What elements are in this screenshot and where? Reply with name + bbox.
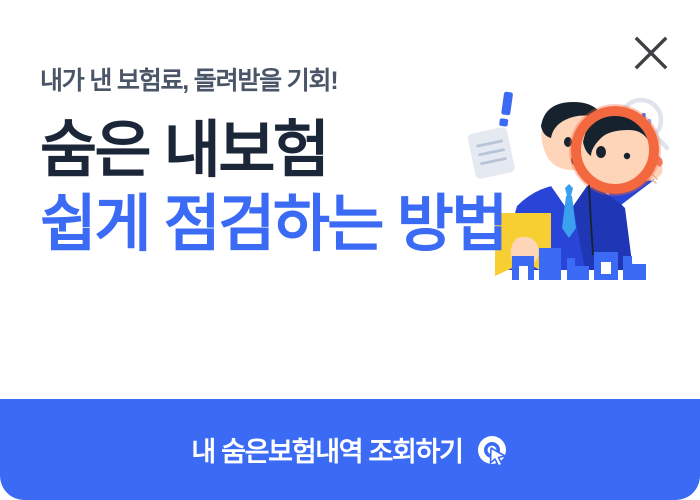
headline-line-2: 쉽게 점검하는 방법 xyxy=(40,192,506,258)
close-button[interactable] xyxy=(630,32,672,74)
headline-line-1: 숨은 내보험 xyxy=(40,118,506,184)
copy-block: 내가 낸 보험료, 돌려받을 기회! 숨은 내보험 쉽게 점검하는 방법 xyxy=(40,66,506,257)
close-x-icon xyxy=(630,32,672,74)
magnifier-cursor-icon xyxy=(475,433,509,467)
promo-banner: 내가 낸 보험료, 돌려받을 기회! 숨은 내보험 쉽게 점검하는 방법 xyxy=(0,0,700,500)
cta-button[interactable]: 내 숨은보험내역 조회하기 xyxy=(0,399,700,500)
eyebrow-text: 내가 낸 보험료, 돌려받을 기회! xyxy=(40,66,506,96)
cta-label: 내 숨은보험내역 조회하기 xyxy=(191,430,462,469)
